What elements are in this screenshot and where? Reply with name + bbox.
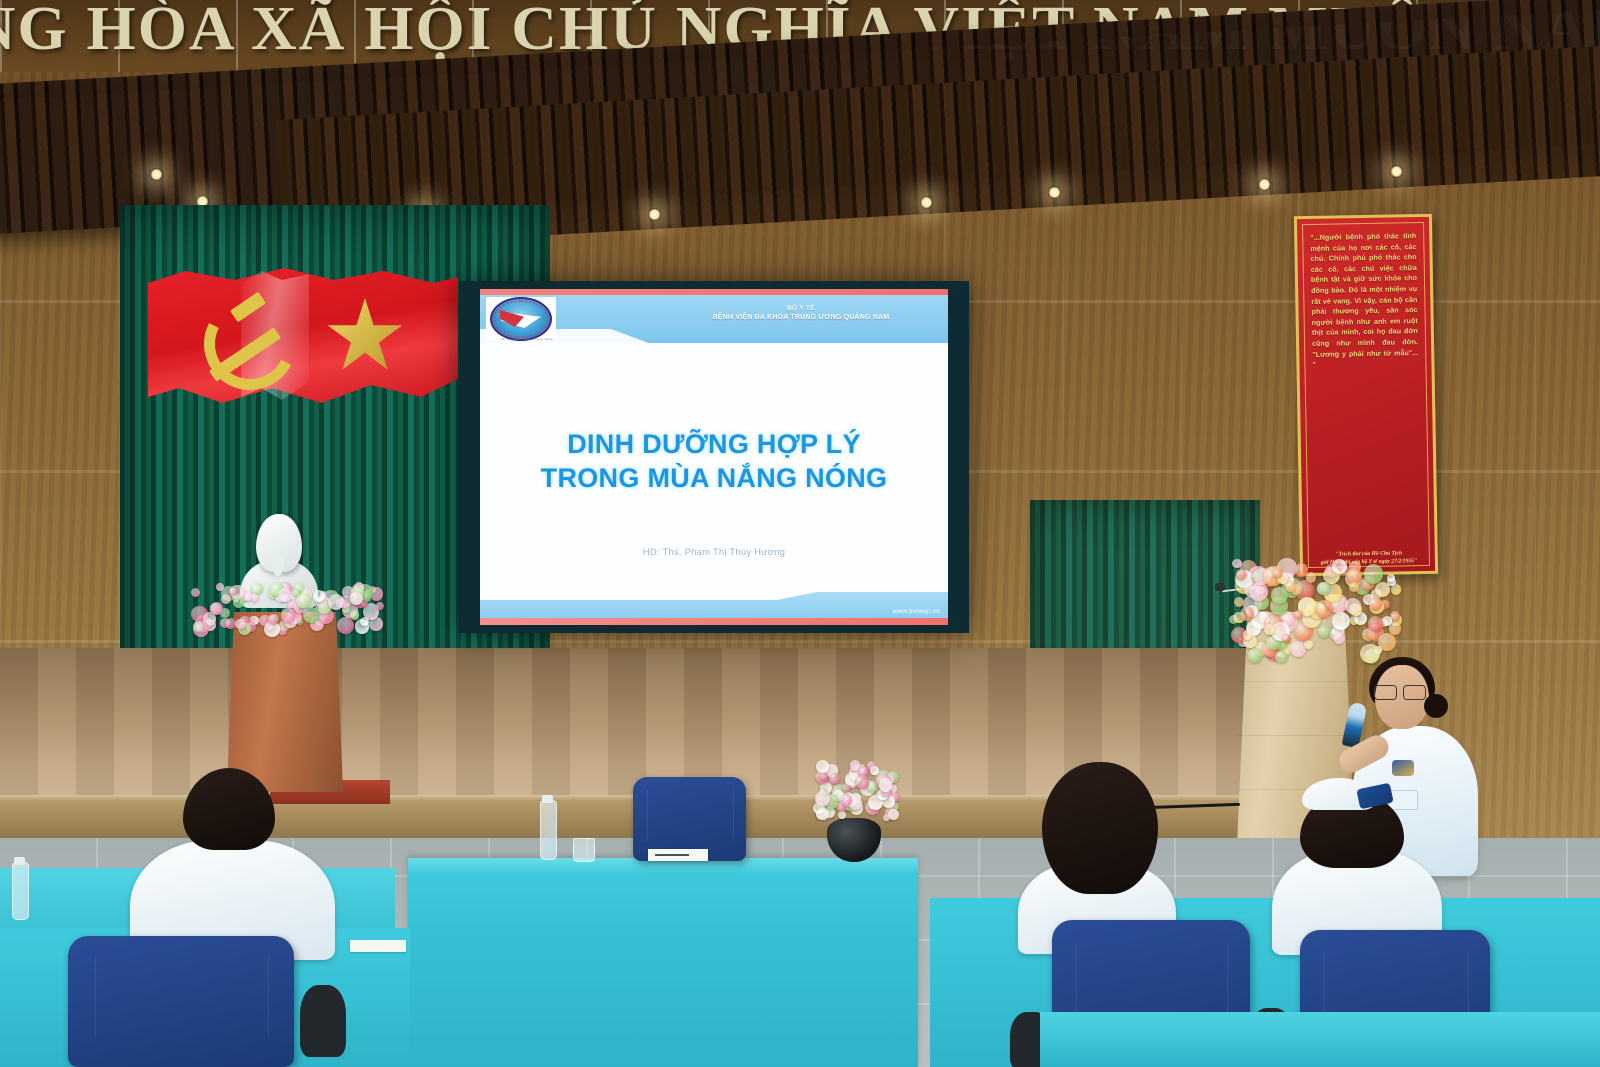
flower-blossom xyxy=(350,592,363,605)
flower-blossom xyxy=(1304,640,1313,649)
speaker-glasses-icon xyxy=(1374,685,1426,698)
flower-blossom xyxy=(870,766,879,775)
slide-title-line-1: DINH DƯỠNG HỢP LÝ xyxy=(541,427,888,461)
flower-blossom xyxy=(193,621,209,637)
flower-blossom xyxy=(1333,632,1345,644)
glasses-lens-right xyxy=(1403,685,1426,700)
slide-footer: www.bvtwqn.vn xyxy=(480,592,948,618)
slide-bottom-accent-bar xyxy=(480,618,948,625)
flower-blossom xyxy=(888,809,899,820)
speaker-lapel-pin xyxy=(1392,760,1414,776)
flower-blossom xyxy=(221,594,232,605)
document-papers xyxy=(350,940,406,952)
flower-blossom xyxy=(328,594,344,610)
flower-blossom xyxy=(879,778,893,792)
flower-blossom xyxy=(1332,559,1347,574)
flower-blossom xyxy=(1382,616,1392,626)
logo-caption: Tận tụy - Trách nhiệm - Chuyên nghiệp xyxy=(493,338,561,341)
flower-blossom xyxy=(233,597,244,608)
ceiling-light xyxy=(920,196,933,209)
flower-blossom xyxy=(1349,582,1359,592)
chair-seam xyxy=(647,790,735,840)
flower-blossom xyxy=(1387,574,1395,582)
flower-blossom xyxy=(216,583,223,590)
glasses-lens-left xyxy=(1374,685,1397,700)
flower-blossom xyxy=(244,592,253,601)
flower-blossom xyxy=(1248,648,1262,662)
conference-hall-photo: NG HÒA XÃ HỘI CHỦ NGHĨA VIỆT NAM MUÔN NĂ… xyxy=(0,0,1600,1067)
attendee-right-1-hair xyxy=(1042,762,1158,894)
flower-blossom xyxy=(1275,651,1287,663)
bust-beard xyxy=(272,552,284,576)
flower-blossom xyxy=(1349,603,1362,616)
table-bouquet xyxy=(812,760,904,826)
ceiling-light xyxy=(1390,165,1403,178)
water-bottle xyxy=(12,862,29,920)
flower-blossom xyxy=(816,808,828,820)
flower-blossom xyxy=(1318,625,1331,638)
flower-blossom xyxy=(229,587,237,595)
attendee-chair-front-left xyxy=(68,936,294,1067)
quote-poster: "...Người bệnh phó thác tính mệnh của họ… xyxy=(1294,214,1438,576)
flower-blossom xyxy=(1364,564,1383,583)
flower-blossom xyxy=(1243,630,1253,640)
slide-header: Tận tụy - Trách nhiệm - Chuyên nghiệp BỘ… xyxy=(480,295,948,343)
flower-blossom xyxy=(268,614,278,624)
slide-title: DINH DƯỠNG HỢP LÝ TRONG MÙA NẮNG NÓNG xyxy=(541,427,888,495)
ceiling-light xyxy=(1258,178,1271,191)
ceiling-light xyxy=(648,208,661,221)
slide-body: DINH DƯỠNG HỢP LÝ TRONG MÙA NẮNG NÓNG HD… xyxy=(480,343,948,592)
water-bottle-cap xyxy=(542,795,553,803)
podium-mic-head-icon xyxy=(1215,583,1225,591)
hospital-logo: Tận tụy - Trách nhiệm - Chuyên nghiệp xyxy=(486,297,556,341)
flower-blossom xyxy=(191,588,200,597)
slide-title-line-2: TRONG MÙA NẮNG NÓNG xyxy=(541,461,888,495)
water-glass xyxy=(573,838,595,862)
water-bottle-cap xyxy=(14,857,25,865)
flower-blossom xyxy=(829,773,840,784)
slide-website-url: www.bvtwqn.vn xyxy=(893,608,940,615)
flower-blossom xyxy=(210,602,223,615)
presentation-slide: Tận tụy - Trách nhiệm - Chuyên nghiệp BỘ… xyxy=(480,289,948,625)
flower-blossom xyxy=(1264,624,1275,635)
ministry-label: BỘ Y TẾ xyxy=(660,304,942,313)
slide-header-text: BỘ Y TẾ BỆNH VIỆN ĐA KHOA TRUNG ƯƠNG QUẢ… xyxy=(660,304,942,323)
hospital-label: BỆNH VIỆN ĐA KHOA TRUNG ƯƠNG QUẢNG NAM xyxy=(660,313,942,323)
flower-blossom xyxy=(1232,559,1242,569)
slide-presenter: HD: Ths. Phạm Thị Thúy Hương xyxy=(643,547,785,558)
flower-blossom xyxy=(376,602,384,610)
flower-blossom xyxy=(296,593,311,608)
flower-blossom xyxy=(815,791,830,806)
flower-blossom xyxy=(838,811,846,819)
flower-blossom xyxy=(1295,563,1309,577)
poster-quote-text: "...Người bệnh phó thác tính mệnh của họ… xyxy=(1304,227,1425,375)
flower-blossom xyxy=(1236,569,1246,579)
flower-blossom xyxy=(1294,610,1303,619)
chair-armrest xyxy=(300,985,346,1057)
water-bottle xyxy=(540,800,557,860)
ceiling-light xyxy=(1048,186,1061,199)
flower-blossom xyxy=(313,590,325,602)
ceiling-light xyxy=(150,168,163,181)
bust-pedestal xyxy=(227,612,343,792)
flower-blossom xyxy=(281,608,296,623)
flower-blossom xyxy=(337,617,354,634)
flower-blossom xyxy=(1315,600,1333,618)
right-table-front xyxy=(1040,1012,1600,1067)
flower-arrangement-left xyxy=(188,582,384,638)
chair-seam xyxy=(95,957,269,1036)
head-table xyxy=(408,858,918,1067)
flower-blossom xyxy=(303,607,319,623)
flower-blossom xyxy=(1332,612,1350,630)
flower-blossom xyxy=(850,760,861,771)
pen xyxy=(655,854,689,856)
speaker-hair-bun xyxy=(1424,694,1448,718)
flower-blossom xyxy=(1375,582,1390,597)
party-flag xyxy=(148,262,458,412)
flower-blossom xyxy=(1368,616,1383,631)
flower-blossom xyxy=(1234,597,1244,607)
flower-basket-right xyxy=(1228,556,1404,666)
flower-blossom xyxy=(235,619,246,630)
slide-footer-wedge xyxy=(480,592,817,600)
flower-blossom xyxy=(1240,607,1254,621)
flower-blossom xyxy=(1249,583,1268,602)
flower-blossom xyxy=(1282,634,1291,643)
logo-oval-icon xyxy=(490,297,552,341)
projection-screen: Tận tụy - Trách nhiệm - Chuyên nghiệp BỘ… xyxy=(459,281,969,633)
